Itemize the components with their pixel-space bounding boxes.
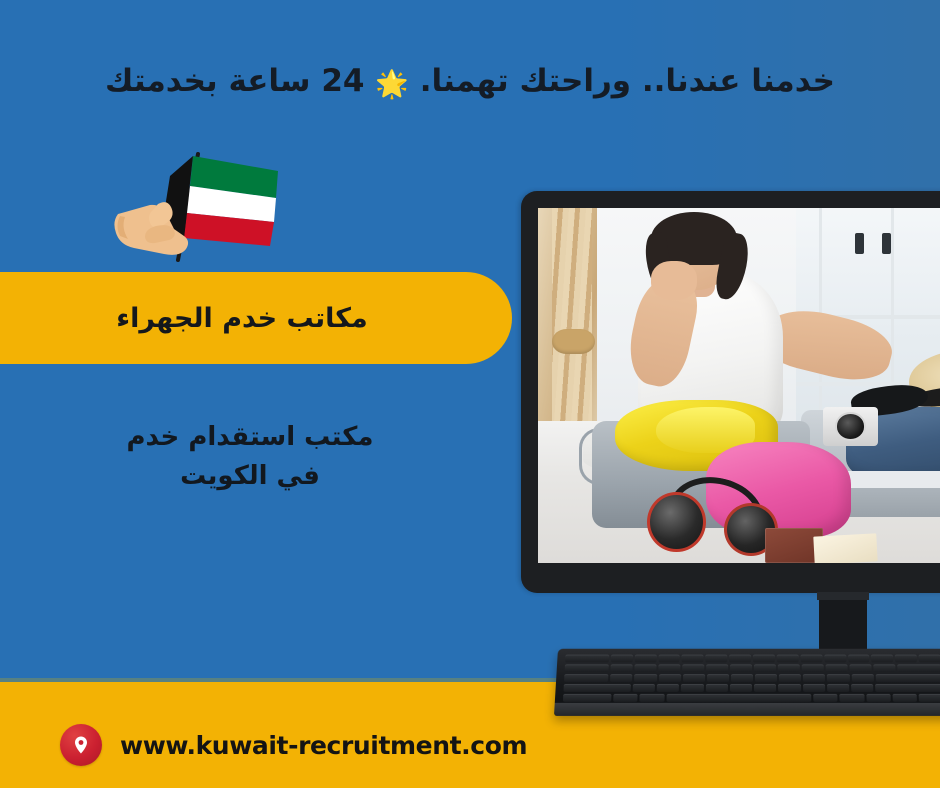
scene-headphones-cup-left	[647, 492, 706, 552]
keyboard-base	[554, 703, 940, 716]
headline: خدمنا عندنا.. وراحتك تهمنا. 🌟 24 ساعة بخ…	[0, 62, 940, 102]
subtitle-line-2: في الكويت	[0, 457, 500, 496]
scene-curtain-tieback	[552, 329, 595, 354]
keyboard-keys	[563, 655, 940, 702]
sparkle-star-icon: 🌟	[375, 69, 409, 100]
pill-title-text: مكاتب خدم الجهراء	[116, 303, 375, 334]
scene-curtain	[552, 208, 593, 442]
scene-camera-lens	[835, 412, 867, 440]
headline-part-2: 24 ساعة بخدمتك	[105, 63, 364, 99]
kuwait-flag-icon	[100, 142, 300, 267]
scene-person-hand	[651, 261, 696, 300]
monitor-screen	[538, 208, 940, 563]
keyboard-row	[565, 655, 940, 663]
website-url[interactable]: www.kuwait-recruitment.com	[120, 731, 527, 760]
location-pin-icon	[60, 724, 102, 766]
subtitle-line-1: مكتب استقدام خدم	[0, 418, 500, 457]
keyboard-row	[565, 664, 940, 672]
subtitle: مكتب استقدام خدم في الكويت	[0, 418, 500, 496]
monitor-stand-neck	[819, 592, 867, 650]
computer-keyboard	[554, 649, 940, 716]
headline-part-1: خدمنا عندنا.. وراحتك تهمنا.	[420, 63, 835, 99]
scene-window-handle-1	[855, 233, 864, 254]
yellow-title-pill: مكاتب خدم الجهراء	[0, 272, 512, 364]
scene-tickets	[814, 533, 879, 563]
keyboard-row	[563, 684, 940, 692]
keyboard-row	[564, 674, 940, 682]
promo-poster: خدمنا عندنا.. وراحتك تهمنا. 🌟 24 ساعة بخ…	[0, 0, 940, 788]
footer-url-bar[interactable]: www.kuwait-recruitment.com	[60, 724, 527, 766]
desktop-monitor	[521, 191, 940, 593]
scene-window-handle-2	[882, 233, 891, 254]
keyboard-row	[563, 694, 940, 702]
